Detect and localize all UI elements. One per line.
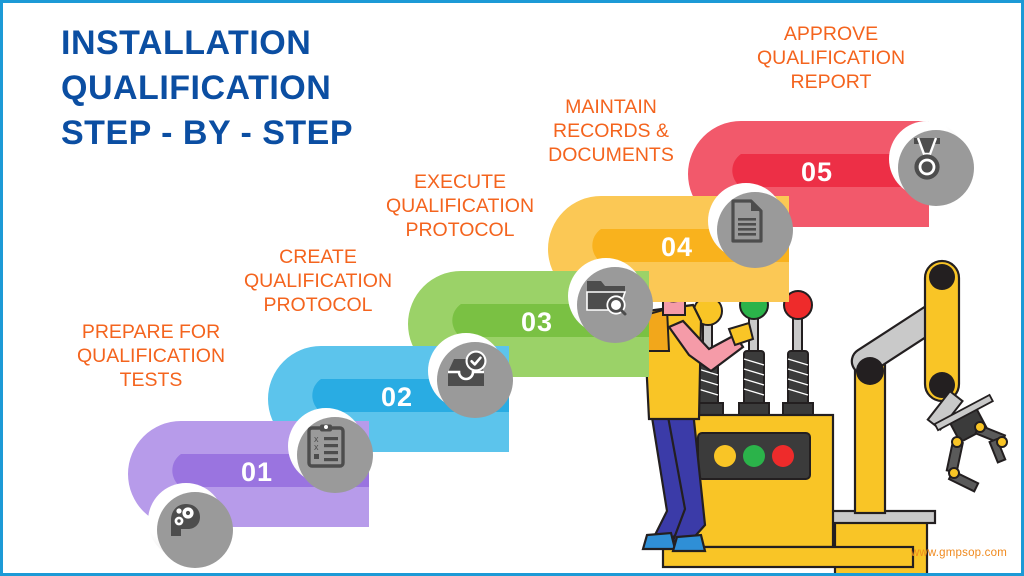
indicator-light-green	[743, 445, 765, 467]
title-line-3: STEP - BY - STEP	[61, 111, 461, 156]
step-caption-02: CREATE QUALIFICATION PROTOCOL	[218, 246, 418, 317]
medal-icon	[906, 135, 948, 183]
indicator-light-red	[772, 445, 794, 467]
step-caption-03: EXECUTE QUALIFICATION PROTOCOL	[360, 171, 560, 242]
badge-document[interactable]	[708, 183, 784, 259]
badge-folder-search[interactable]	[568, 258, 644, 334]
step-caption-05: APPROVE QUALIFICATION REPORT	[731, 23, 931, 94]
caption-line: QUALIFICATION	[218, 270, 418, 294]
caption-line: TESTS	[51, 369, 251, 393]
robot-arm-icon	[823, 261, 1007, 575]
caption-line: EXECUTE	[360, 171, 560, 195]
caption-line: REPORT	[731, 71, 931, 95]
caption-line: QUALIFICATION	[360, 195, 560, 219]
document-icon	[726, 198, 766, 244]
caption-line: QUALIFICATION	[731, 47, 931, 71]
page-title: INSTALLATION QUALIFICATION STEP - BY - S…	[61, 21, 461, 156]
clipboard-checklist-icon: x x	[305, 423, 347, 469]
badge-inbox-check[interactable]	[428, 333, 504, 409]
badge-clipboard-checklist[interactable]: x x	[288, 408, 364, 484]
folder-search-icon	[583, 275, 629, 317]
badge-head-gears[interactable]	[148, 483, 224, 559]
step-caption-01: PREPARE FOR QUALIFICATION TESTS	[51, 321, 251, 392]
title-line-1: INSTALLATION	[61, 21, 461, 66]
head-gears-icon	[164, 499, 208, 543]
step-number-02: 02	[381, 382, 413, 413]
step-number-05: 05	[801, 157, 833, 188]
indicator-light-yellow	[714, 445, 736, 467]
caption-line: PREPARE FOR	[51, 321, 251, 345]
caption-line: PROTOCOL	[218, 294, 418, 318]
caption-line: APPROVE	[731, 23, 931, 47]
caption-line: CREATE	[218, 246, 418, 270]
watermark: www.gmpsop.com	[911, 547, 1007, 559]
title-line-2: QUALIFICATION	[61, 66, 461, 111]
caption-line: MAINTAIN	[511, 96, 711, 120]
caption-line: QUALIFICATION	[51, 345, 251, 369]
svg-text:x: x	[314, 442, 319, 452]
step-number-04: 04	[661, 232, 693, 263]
infographic-canvas: INSTALLATION QUALIFICATION STEP - BY - S…	[0, 0, 1024, 576]
step-number-03: 03	[521, 307, 553, 338]
caption-line: PROTOCOL	[360, 219, 560, 243]
badge-medal[interactable]	[889, 121, 965, 197]
inbox-check-icon	[443, 350, 489, 392]
step-number-01: 01	[241, 457, 273, 488]
